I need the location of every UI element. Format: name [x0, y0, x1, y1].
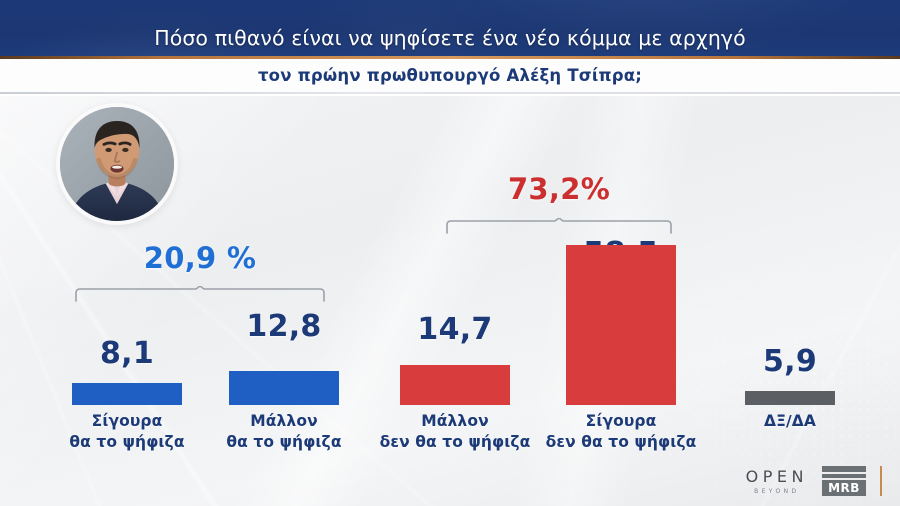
mrb-logo: MRB [822, 466, 866, 496]
bar-group-mallon-tha: 12,8 Μάλλον θα το ψήφιζα [229, 96, 339, 506]
bar-category-line1: ΔΞ/ΔΑ [690, 411, 890, 431]
mrb-logo-word: MRB [822, 480, 866, 496]
bar-rect[interactable] [72, 383, 182, 405]
mrb-logo-bar-top [822, 466, 866, 472]
bar-value-label: 14,7 [355, 312, 555, 347]
bar-rect[interactable] [566, 245, 676, 405]
open-logo-subword: BEYOND [754, 488, 799, 495]
bar-group-sigoura-tha: 8,1 Σίγουρα θα το ψήφιζα [72, 96, 182, 506]
bar-group-sigoura-den-tha: 58,5 Σίγουρα δεν θα το ψήφιζα [566, 96, 676, 506]
bar-category-line2: θα το ψήφιζα [184, 432, 384, 452]
bar-category-line2: δεν θα το ψήφιζα [521, 432, 721, 452]
page-title: Πόσο πιθανό είναι να ψηφίσετε ένα νέο κό… [0, 26, 900, 50]
subtitle-band: τον πρώην πρωθυπουργό Αλέξη Τσίπρα; [0, 59, 900, 94]
bar-rect[interactable] [229, 371, 339, 405]
bar-group-mallon-den-tha: 14,7 Μάλλον δεν θα το ψήφιζα [400, 96, 510, 506]
bar-category-line1: Μάλλον [184, 411, 384, 431]
page-subtitle: τον πρώην πρωθυπουργό Αλέξη Τσίπρα; [0, 66, 900, 85]
bar-rect[interactable] [745, 391, 835, 405]
open-logo-word: OPEN [746, 467, 808, 486]
bar-value-label: 5,9 [690, 344, 890, 379]
bar-rect[interactable] [400, 365, 510, 405]
open-beyond-logo: OPEN BEYOND [746, 467, 808, 495]
logo-bar: OPEN BEYOND MRB [746, 466, 882, 496]
bar-group-dxda: 5,9 ΔΞ/ΔΑ [745, 96, 835, 506]
header-band: Πόσο πιθανό είναι να ψηφίσετε ένα νέο κό… [0, 0, 900, 59]
mrb-logo-bar-mid [822, 474, 866, 478]
bar-value-label: 12,8 [184, 309, 384, 344]
chart-canvas: 20,9 % 73,2% 8,1 Σίγουρα θα το ψήφιζα 12… [0, 96, 900, 506]
accent-tick [880, 466, 882, 496]
